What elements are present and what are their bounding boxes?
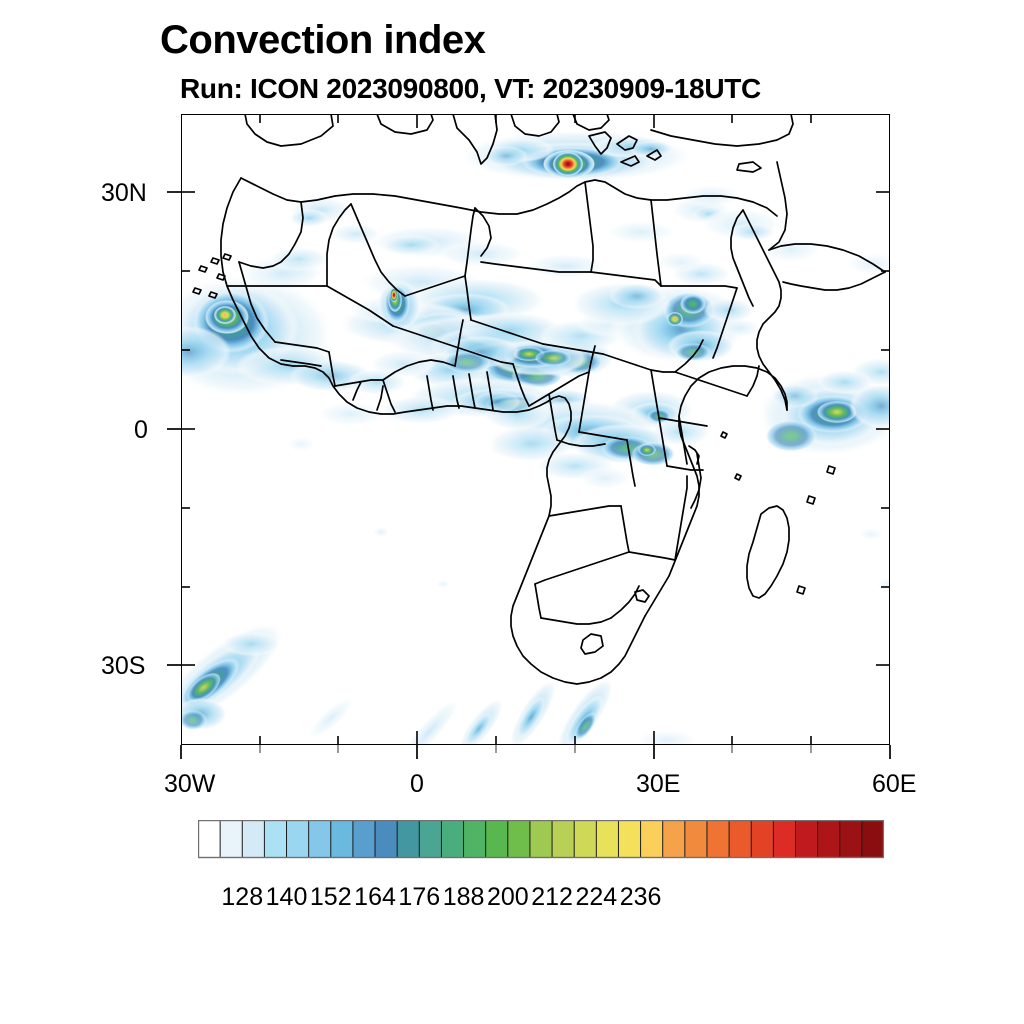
colorbar-cell[interactable] [486, 820, 509, 858]
colorbar-cell[interactable] [331, 820, 354, 858]
colorbar-cell[interactable] [530, 820, 553, 858]
colorbar-cell[interactable] [242, 820, 265, 858]
colorbar-cell[interactable] [375, 820, 398, 858]
colorbar-cell[interactable] [508, 820, 531, 858]
colorbar-cell[interactable] [596, 820, 619, 858]
y-axis-label-30s: 30S [101, 652, 145, 681]
y-axis-label-0: 0 [134, 416, 148, 445]
colorbar-cell[interactable] [220, 820, 243, 858]
colorbar-cell[interactable] [795, 820, 818, 858]
colorbar-cell[interactable] [751, 820, 774, 858]
colorbar-cell[interactable] [574, 820, 597, 858]
colorbar-cell[interactable] [707, 820, 730, 858]
colorbar-cell[interactable] [840, 820, 863, 858]
outer-tick-stubs [150, 100, 920, 780]
colorbar-cell[interactable] [309, 820, 332, 858]
colorbar-cell[interactable] [862, 820, 884, 858]
colorbar-cell[interactable] [397, 820, 420, 858]
colorbar-cell[interactable] [198, 820, 221, 858]
colorbar-cell[interactable] [685, 820, 708, 858]
figure-canvas: Convection index Run: ICON 2023090800, V… [0, 0, 1024, 1024]
x-axis-label-30w: 30W [164, 770, 215, 799]
x-axis-label-60e: 60E [872, 770, 916, 799]
y-axis-label-30n: 30N [101, 179, 147, 208]
colorbar-cell[interactable] [663, 820, 686, 858]
colorbar-cell[interactable] [464, 820, 487, 858]
x-axis-label-0: 0 [410, 770, 424, 799]
colorbar-cell[interactable] [818, 820, 841, 858]
colorbar-cell[interactable] [287, 820, 310, 858]
colorbar-cell[interactable] [264, 820, 287, 858]
x-axis-label-30e: 30E [636, 770, 680, 799]
colorbar-cell[interactable] [618, 820, 641, 858]
colorbar-cell[interactable] [419, 820, 442, 858]
colorbar-cell[interactable] [552, 820, 575, 858]
colorbar-cell[interactable] [641, 820, 664, 858]
colorbar[interactable] [198, 820, 884, 876]
page-title: Convection index [160, 18, 485, 63]
colorbar-cell[interactable] [773, 820, 796, 858]
colorbar-cell[interactable] [353, 820, 376, 858]
colorbar-cell[interactable] [729, 820, 752, 858]
colorbar-cell[interactable] [441, 820, 464, 858]
colorbar-tick-label: 236 [611, 883, 671, 912]
